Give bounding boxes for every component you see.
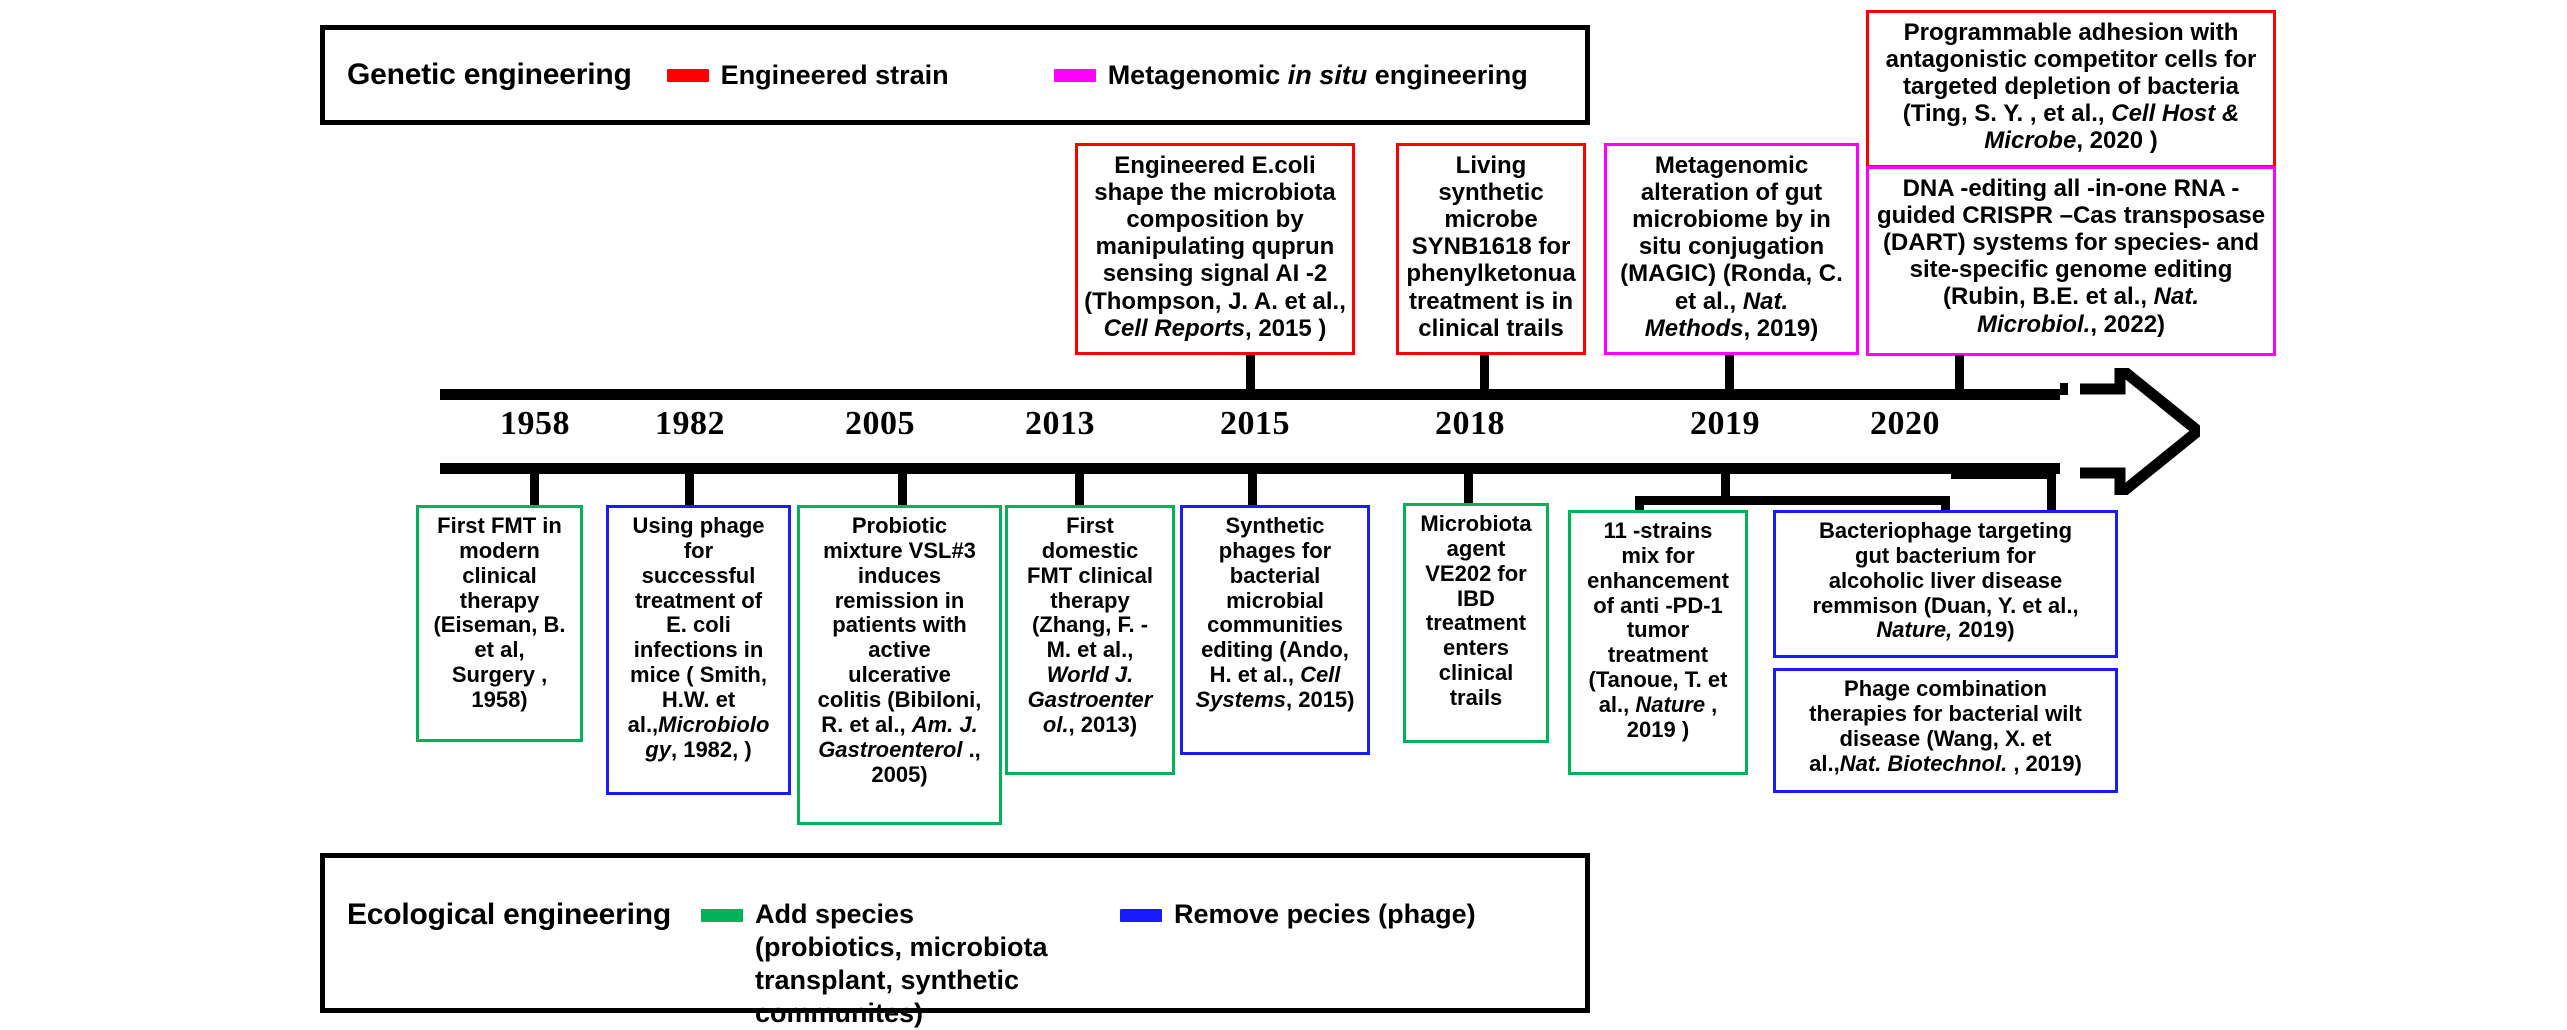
legend-title-ecological: Ecological engineering	[347, 898, 671, 932]
card-magic-in-situ-conjugation: Metagenomic alteration of gut microbiome…	[1604, 143, 1859, 355]
connector-bottom-2019-bracket	[1635, 496, 1950, 505]
legend-label-engineered-strain: Engineered strain	[721, 59, 949, 92]
connector-bottom-1982	[685, 470, 694, 506]
timeline-year-2013: 2013	[1000, 405, 1120, 443]
card-text: Probiotic mixture VSL#3 induces remissio…	[805, 514, 994, 787]
legend-label-add-species: Add species (probiotics, microbiota tran…	[755, 898, 1060, 1030]
timeline-year-2020: 2020	[1845, 405, 1965, 443]
card-text: Synthetic phages for bacterial microbial…	[1188, 514, 1362, 713]
card-phage-treatment-ecoli-mice: Using phage for successful treatment of …	[606, 505, 791, 795]
connector-bottom-2015	[1248, 470, 1257, 506]
timeline-arrowhead	[2060, 368, 2200, 495]
card-text: 11 -strains mix for enhancement of anti …	[1576, 519, 1740, 743]
card-text: DNA -editing all -in-one RNA - guided CR…	[1874, 175, 2268, 338]
card-text: Metagenomic alteration of gut microbiome…	[1612, 152, 1851, 342]
card-text: Engineered E.coli shape the microbiota c…	[1083, 152, 1347, 342]
card-programmable-adhesion-antagonistic-cells: Programmable adhesion with antagonistic …	[1866, 10, 2276, 168]
legend-entry-remove-species: Remove pecies (phage)	[1120, 898, 1476, 931]
legend-label-remove-species: Remove pecies (phage)	[1174, 898, 1476, 931]
legend-entry-metagenomic-in-situ: Metagenomic in situ engineering	[1054, 59, 1528, 92]
card-synthetic-phages-community-editing: Synthetic phages for bacterial microbial…	[1180, 505, 1370, 755]
ecological-engineering-legend: Ecological engineering Add species (prob…	[320, 853, 1590, 1013]
card-text: Phage combination therapies for bacteria…	[1781, 677, 2110, 776]
card-first-domestic-fmt-clinical-therapy: First domestic FMT clinical therapy (Zha…	[1005, 505, 1175, 775]
timeline-year-2005: 2005	[820, 405, 940, 443]
connector-bottom-2018	[1464, 470, 1473, 506]
card-bacteriophage-alcoholic-liver-disease: Bacteriophage targeting gut bacterium fo…	[1773, 510, 2118, 658]
connector-top-2019	[1725, 355, 1734, 393]
legend-swatch-green	[701, 909, 743, 922]
timeline-year-2015: 2015	[1195, 405, 1315, 443]
card-text: Microbiota agent VE202 for IBD treatment…	[1411, 512, 1541, 711]
timeline-year-1958: 1958	[475, 405, 595, 443]
legend-entry-add-species: Add species (probiotics, microbiota tran…	[701, 898, 1060, 1030]
connector-top-2015	[1246, 355, 1255, 393]
card-phage-combination-bacterial-wilt: Phage combination therapies for bacteria…	[1773, 668, 2118, 793]
connector-top-2020	[1955, 355, 1964, 393]
card-first-fmt-modern-clinical-therapy: First FMT in modern clinical therapy (Ei…	[416, 505, 583, 742]
timeline-year-2018: 2018	[1410, 405, 1530, 443]
card-text: First domestic FMT clinical therapy (Zha…	[1013, 514, 1167, 738]
timeline-year-1982: 1982	[630, 405, 750, 443]
card-dart-crispr-cas-transposase: DNA -editing all -in-one RNA - guided CR…	[1866, 166, 2276, 356]
card-text: Programmable adhesion with antagonistic …	[1874, 19, 2268, 155]
connector-top-2018	[1480, 355, 1489, 393]
card-engineered-ecoli-quorum-sensing: Engineered E.coli shape the microbiota c…	[1075, 143, 1355, 355]
genetic-engineering-legend: Genetic engineering Engineered strain Me…	[320, 25, 1590, 125]
card-text: Living synthetic microbe SYNB1618 for ph…	[1404, 152, 1578, 342]
connector-bottom-2020-drop	[2047, 470, 2056, 512]
legend-title-genetic: Genetic engineering	[347, 58, 632, 92]
card-probiotic-vsl3-ulcerative-colitis: Probiotic mixture VSL#3 induces remissio…	[797, 505, 1002, 825]
card-text: Using phage for successful treatment of …	[614, 514, 783, 763]
card-eleven-strain-mix-anti-pd1: 11 -strains mix for enhancement of anti …	[1568, 510, 1748, 775]
card-text: Bacteriophage targeting gut bacterium fo…	[1781, 519, 2110, 643]
legend-entry-engineered-strain: Engineered strain	[667, 59, 949, 92]
connector-bottom-2013	[1075, 470, 1084, 506]
timeline-year-2019: 2019	[1665, 405, 1785, 443]
connector-bottom-2005	[898, 470, 907, 506]
card-microbiota-agent-ve202-ibd: Microbiota agent VE202 for IBD treatment…	[1403, 503, 1549, 743]
card-text: First FMT in modern clinical therapy (Ei…	[424, 514, 575, 713]
card-living-synthetic-microbe-synb1618: Living synthetic microbe SYNB1618 for ph…	[1396, 143, 1586, 355]
legend-swatch-blue	[1120, 909, 1162, 922]
connector-bottom-2020-bracket	[1951, 470, 2056, 479]
legend-label-metagenomic-in-situ: Metagenomic in situ engineering	[1108, 59, 1528, 92]
connector-bottom-1958	[530, 470, 539, 506]
legend-swatch-red	[667, 69, 709, 82]
legend-swatch-magenta	[1054, 69, 1096, 82]
